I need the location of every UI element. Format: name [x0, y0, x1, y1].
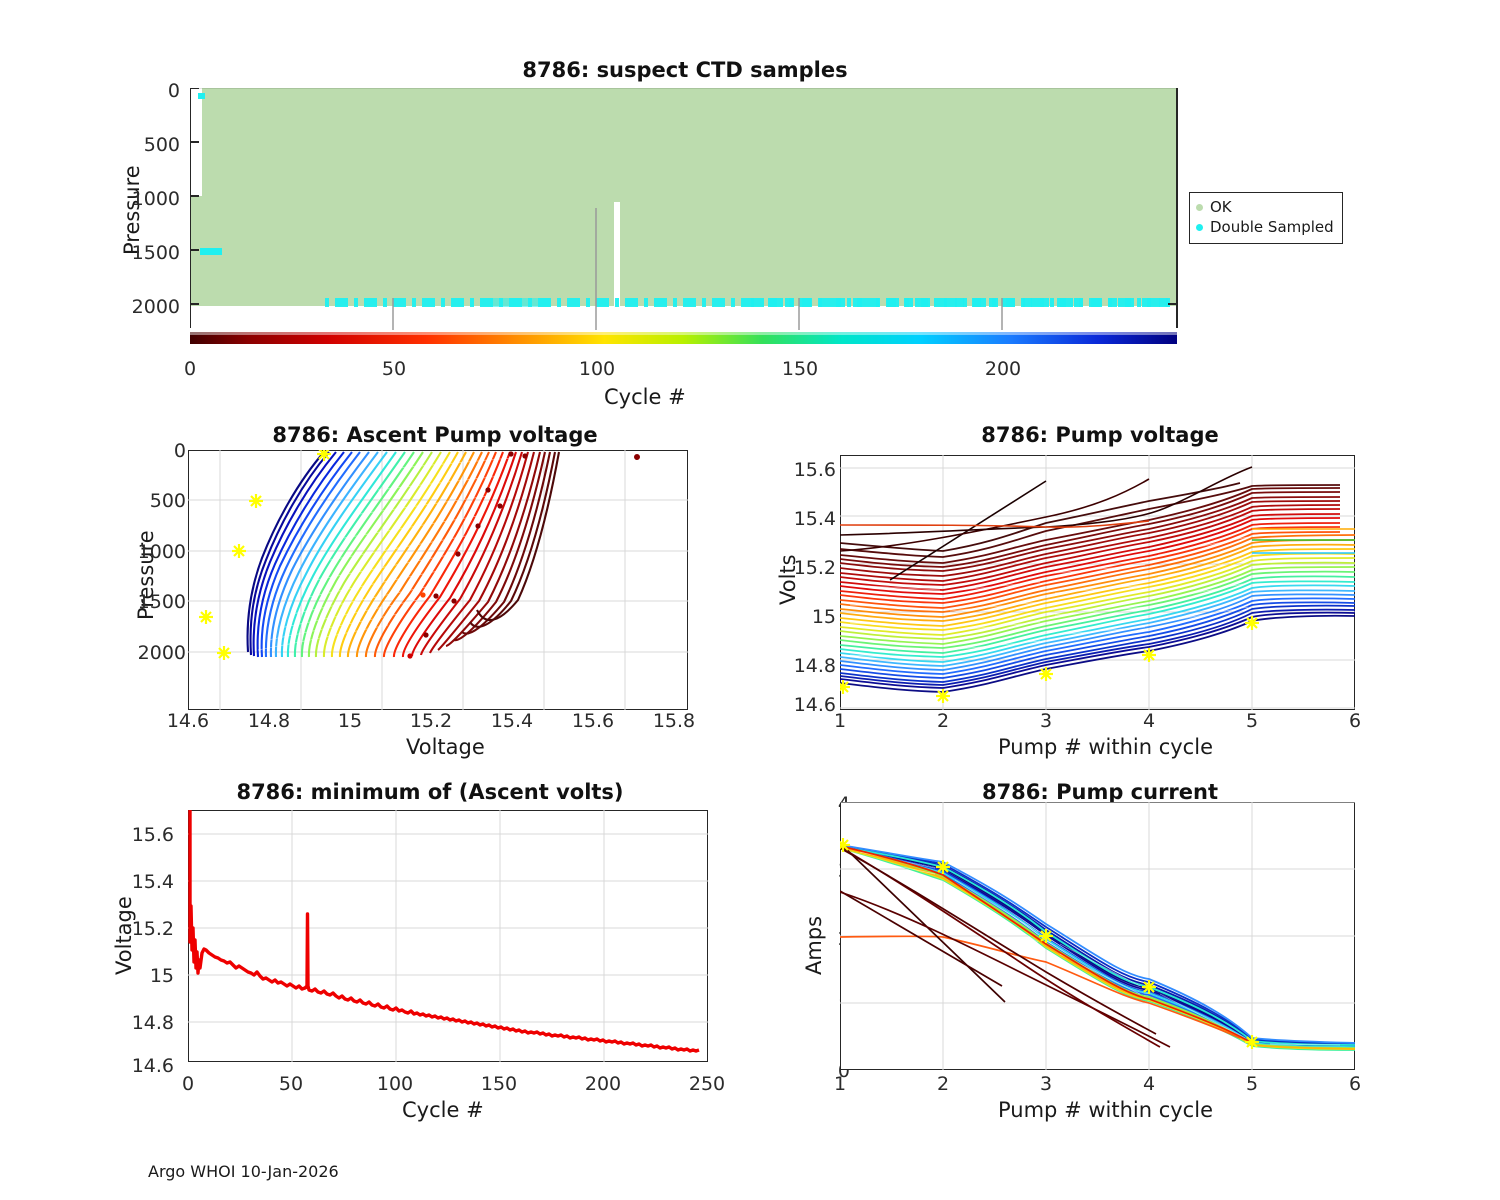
- xtick-min-50: 50: [270, 1073, 312, 1095]
- panel-min-ascent-volts: 8786: minimum of (Ascent volts) Voltage …: [0, 0, 740, 1140]
- xtick-pumpc-2: 2: [926, 1073, 960, 1095]
- xtick-min-100: 100: [374, 1073, 416, 1095]
- panel-pump-current: 8786: Pump current Amps Pump # within cy…: [740, 0, 1500, 1140]
- ytick-min-146: 14.6: [88, 1055, 174, 1077]
- panel-title-min-ascent-volts: 8786: minimum of (Ascent volts): [150, 780, 710, 804]
- xtick-pumpc-6: 6: [1338, 1073, 1372, 1095]
- xtick-pumpc-4: 4: [1132, 1073, 1166, 1095]
- ytick-min-148: 14.8: [88, 1012, 174, 1034]
- xtick-min-0: 0: [167, 1073, 209, 1095]
- xtick-min-250: 250: [686, 1073, 728, 1095]
- xtick-pumpc-3: 3: [1029, 1073, 1063, 1095]
- figure-canvas: 8786: suspect CTD samples Pressure Cycle…: [0, 0, 1500, 1200]
- axis-label-pump-number-current: Pump # within cycle: [998, 1098, 1213, 1122]
- axis-label-cycle-min: Cycle #: [402, 1098, 484, 1122]
- ytick-min-156: 15.6: [88, 824, 174, 846]
- plot-area-pump-current: [840, 802, 1355, 1070]
- xtick-min-150: 150: [478, 1073, 520, 1095]
- plot-area-min-ascent-volts: [188, 810, 708, 1062]
- xtick-pumpc-5: 5: [1235, 1073, 1269, 1095]
- ytick-min-15: 15: [88, 965, 174, 987]
- xtick-pumpc-1: 1: [823, 1073, 857, 1095]
- xtick-min-200: 200: [582, 1073, 624, 1095]
- ytick-min-154: 15.4: [88, 871, 174, 893]
- figure-footer: Argo WHOI 10-Jan-2026: [148, 1162, 339, 1181]
- panel-title-pump-current: 8786: Pump current: [840, 780, 1360, 804]
- ytick-min-152: 15.2: [88, 918, 174, 940]
